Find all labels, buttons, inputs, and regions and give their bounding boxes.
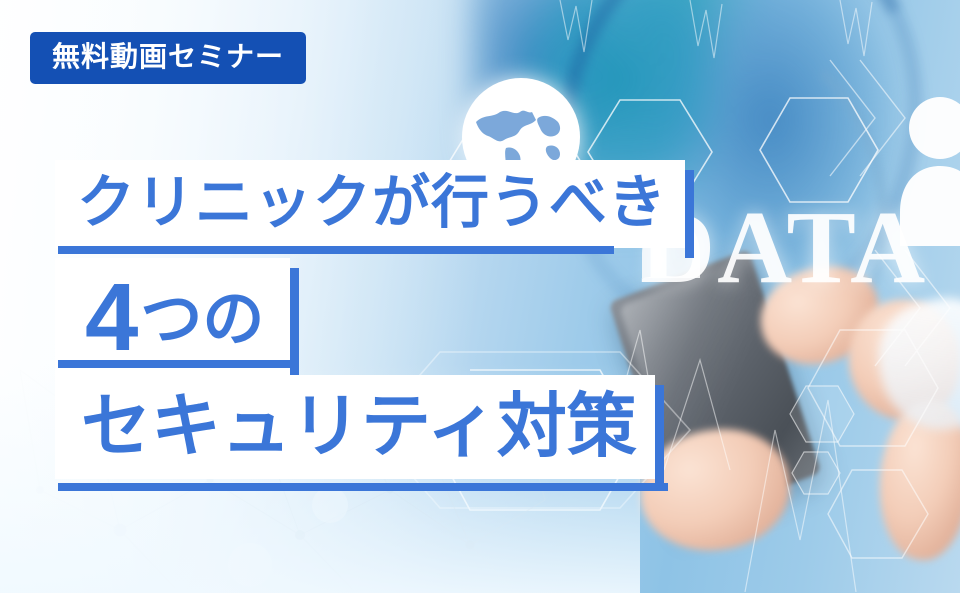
headline-line-1: クリニックが行うべき bbox=[55, 160, 685, 248]
headline-underbar-3 bbox=[58, 483, 668, 491]
seminar-badge: 無料動画セミナー bbox=[30, 32, 306, 84]
headline-line-3-row: セキュリティ対策 bbox=[55, 375, 655, 479]
seminar-banner: DATA 無料動画セミナー クリニックが行うべき 4つの セキュリティ対策 bbox=[0, 0, 960, 593]
headline-count-suffix: つの bbox=[140, 285, 264, 354]
headline-line-3: セキュリティ対策 bbox=[55, 375, 655, 479]
headline-underbar-2 bbox=[58, 360, 298, 368]
headline-count-number: 4 bbox=[85, 264, 136, 371]
headline-line-1-row: クリニックが行うべき bbox=[55, 160, 685, 248]
headline-underbar-1 bbox=[58, 246, 614, 254]
